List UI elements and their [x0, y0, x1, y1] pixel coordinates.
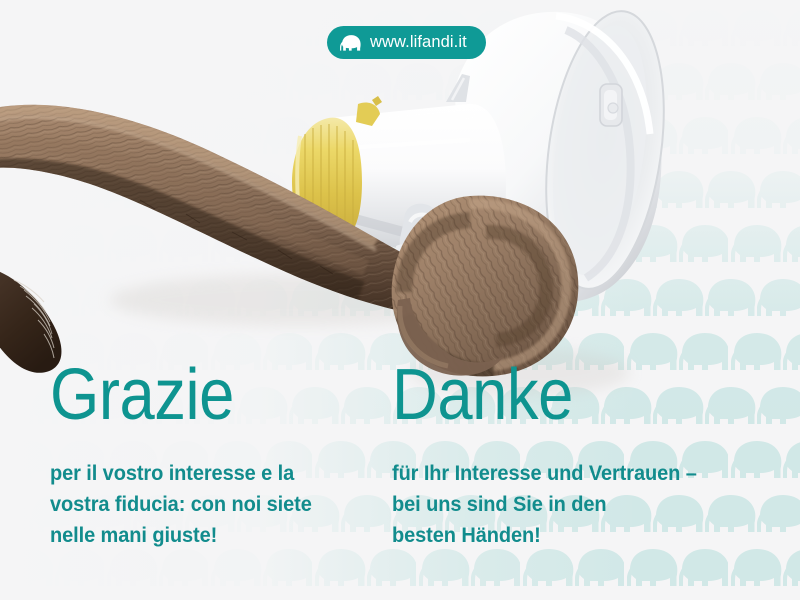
elephant-icon — [340, 34, 361, 51]
thank-you-banner: www.lifandi.it Grazie per il vostro inte… — [0, 0, 800, 600]
italian-headline: Grazie — [50, 358, 332, 432]
italian-body: per il vostro interesse e la vostra fidu… — [50, 432, 348, 551]
website-badge[interactable]: www.lifandi.it — [327, 26, 486, 59]
german-text-column: Danke für Ihr Interesse und Vertrauen – … — [392, 358, 752, 551]
italian-body-line-1: per il vostro interesse e la — [50, 458, 348, 489]
german-headline: Danke — [392, 358, 709, 432]
german-body: für Ihr Interesse und Vertrauen – bei un… — [392, 432, 727, 551]
german-body-line-2: bei uns sind Sie in den — [392, 489, 727, 520]
italian-body-line-3: nelle mani giuste! — [50, 520, 348, 551]
german-body-line-3: besten Händen! — [392, 520, 727, 551]
german-body-line-1: für Ihr Interesse und Vertrauen – — [392, 458, 727, 489]
italian-body-line-2: vostra fiducia: con noi siete — [50, 489, 348, 520]
website-url: www.lifandi.it — [370, 33, 467, 52]
italian-text-column: Grazie per il vostro interesse e la vost… — [50, 358, 370, 551]
